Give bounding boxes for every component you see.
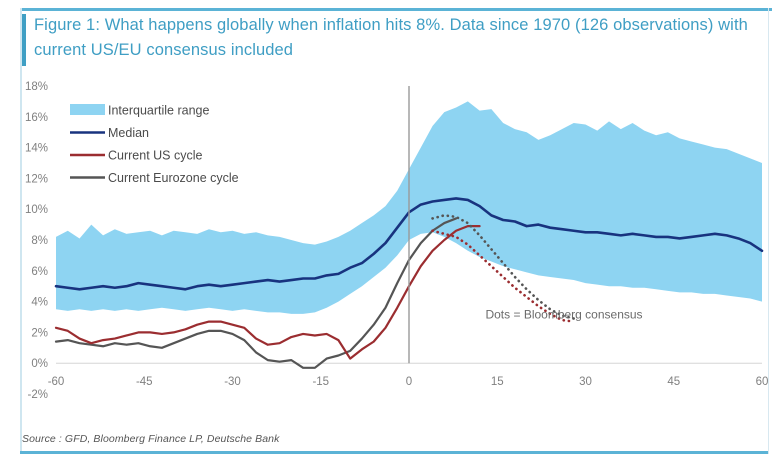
x-tick-label: 45 <box>667 376 680 388</box>
y-tick-label: 6% <box>31 266 48 278</box>
x-tick-label: 0 <box>406 376 412 388</box>
y-tick-label: 8% <box>31 235 48 247</box>
y-tick-label: -2% <box>28 389 48 401</box>
x-tick-label: 15 <box>491 376 504 388</box>
legend-swatch-band <box>70 104 105 115</box>
figure-title: Figure 1: What happens globally when inf… <box>34 13 754 63</box>
x-tick-label: -60 <box>48 376 65 388</box>
x-tick-label: -30 <box>224 376 241 388</box>
y-tick-label: 14% <box>25 143 48 155</box>
title-accent-bar <box>22 14 26 66</box>
y-tick-label: 4% <box>31 297 48 309</box>
x-tick-label: 60 <box>756 376 769 388</box>
legend-label: Current US cycle <box>108 149 203 163</box>
x-tick-label: 30 <box>579 376 592 388</box>
chart-area: -2%0%2%4%6%8%10%12%14%16%18%-60-45-30-15… <box>0 78 781 428</box>
legend-label: Interquartile range <box>108 104 210 118</box>
legend-label: Median <box>108 126 149 140</box>
bottom-divider <box>20 451 768 454</box>
y-tick-label: 16% <box>25 112 48 124</box>
top-divider <box>20 8 772 11</box>
x-tick-label: -15 <box>312 376 329 388</box>
y-tick-label: 18% <box>25 81 48 93</box>
y-tick-label: 12% <box>25 173 48 185</box>
source-note: Source : GFD, Bloomberg Finance LP, Deut… <box>22 433 279 445</box>
legend-label: Current Eurozone cycle <box>108 171 239 185</box>
figure-container: Figure 1: What happens globally when inf… <box>0 0 781 464</box>
inflation-cycle-chart: -2%0%2%4%6%8%10%12%14%16%18%-60-45-30-15… <box>0 78 781 428</box>
x-tick-label: -45 <box>136 376 153 388</box>
dots-annotation: Dots = Bloomberg consensus <box>485 308 642 322</box>
y-tick-label: 10% <box>25 204 48 216</box>
y-tick-label: 0% <box>31 358 48 370</box>
y-tick-label: 2% <box>31 327 48 339</box>
